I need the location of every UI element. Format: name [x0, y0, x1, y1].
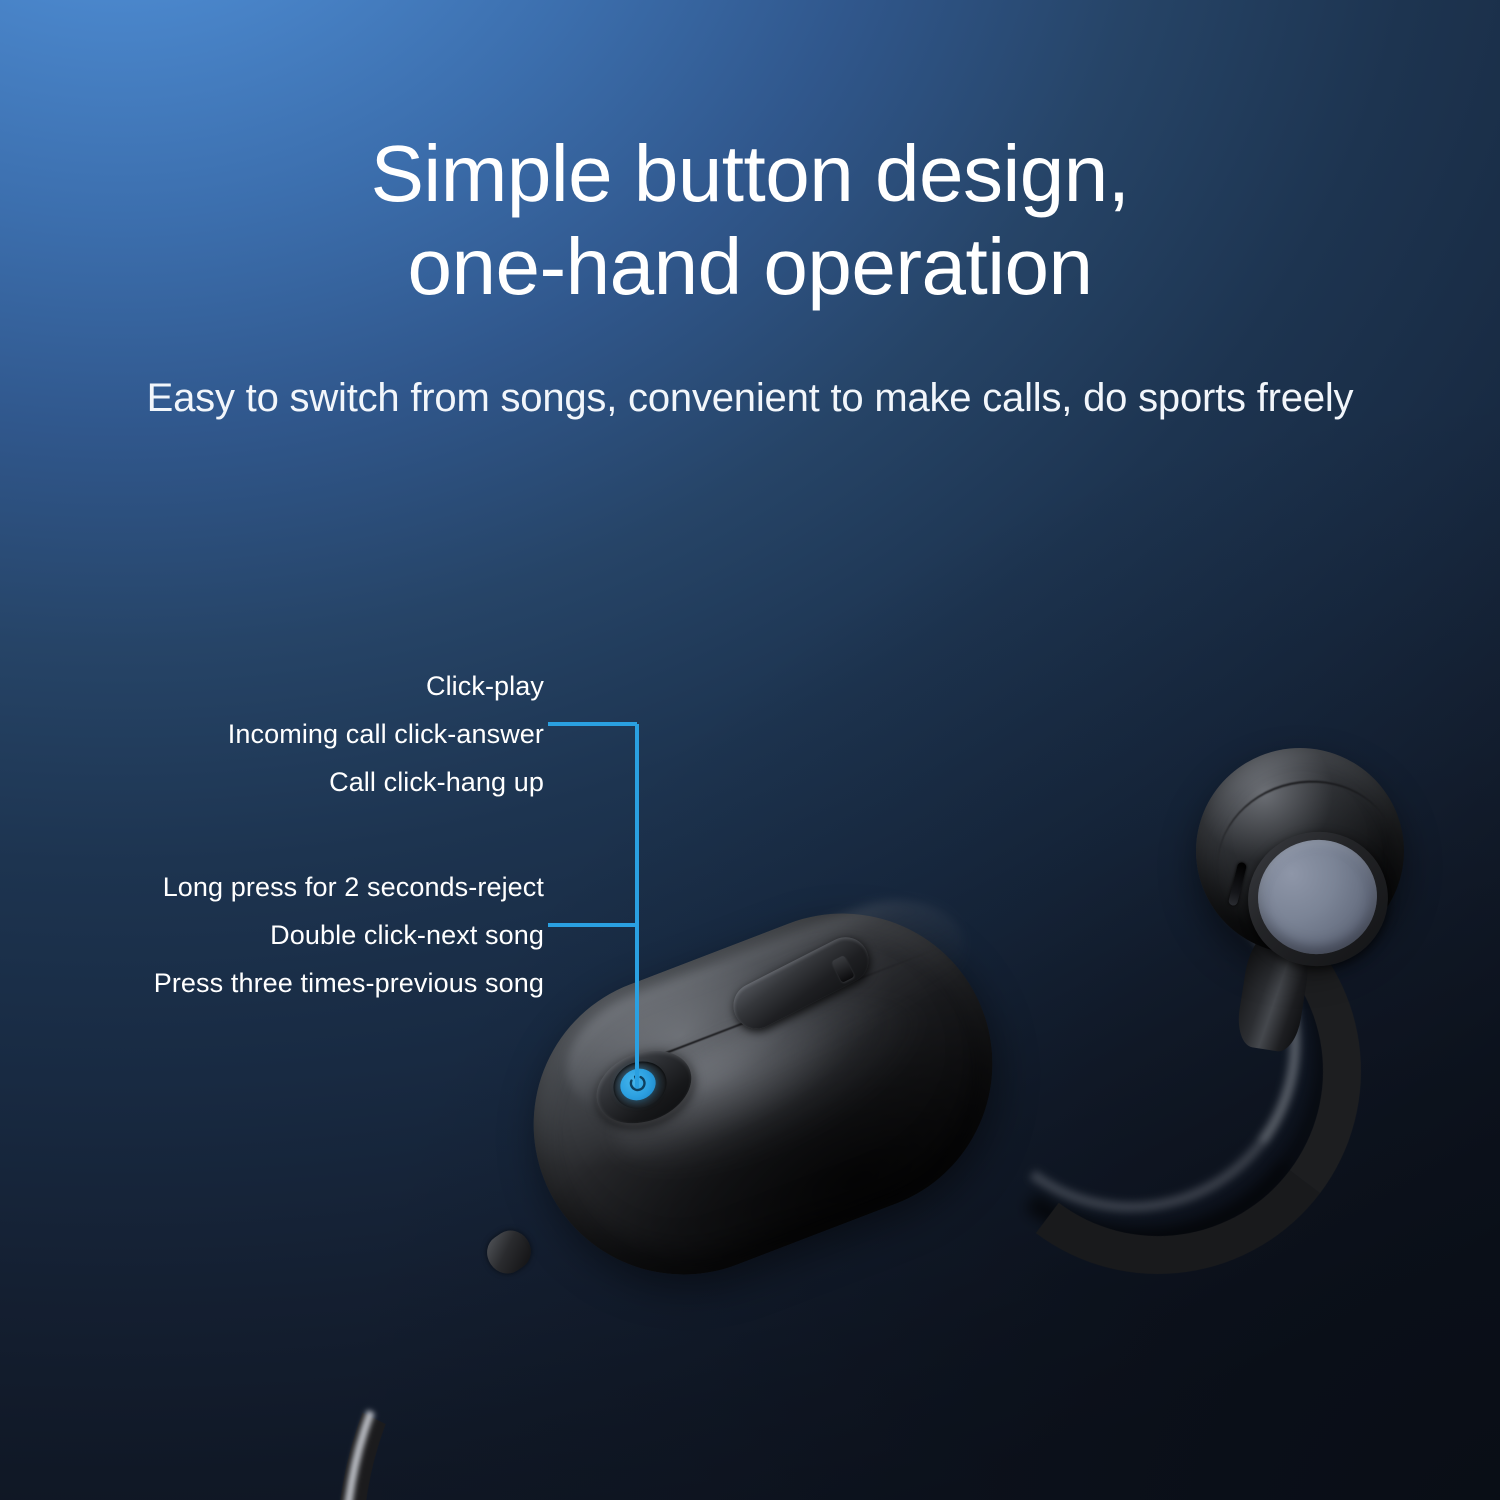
callout-double-click-next: Double click-next song: [60, 911, 544, 959]
callout-incoming-call-answer: Incoming call click-answer: [60, 710, 544, 758]
volume-rocker-button[interactable]: [726, 929, 877, 1036]
ear-hook-stem: [1234, 926, 1314, 1054]
control-module-top-face: [548, 877, 983, 1140]
power-button-inner: [607, 1054, 674, 1116]
volume-rocker-notch: [831, 955, 854, 983]
callout-group-multi-press: Long press for 2 seconds-reject Double c…: [60, 863, 544, 1007]
control-module-body: [490, 870, 1036, 1319]
earbud-seam: [1203, 764, 1396, 880]
power-button-led-ring: [616, 1064, 661, 1106]
neckband-cable-highlight: [239, 1208, 786, 1500]
power-icon: [624, 1070, 652, 1098]
page-title: Simple button design, one-hand operation: [0, 128, 1500, 314]
marketing-banner: Simple button design, one-hand operation…: [0, 0, 1500, 1500]
page-subtitle: Easy to switch from songs, convenient to…: [0, 376, 1500, 421]
neckband-cable: [234, 1205, 804, 1500]
callout-list: Click-play Incoming call click-answer Ca…: [60, 662, 544, 1007]
earbud-shell: [1196, 748, 1404, 954]
control-module-highlight: [595, 969, 946, 1199]
ear-hook: [929, 842, 1388, 1301]
earbud-vent-slot: [1228, 862, 1247, 907]
power-button[interactable]: [586, 1038, 702, 1137]
callout-call-hang-up: Call click-hang up: [60, 758, 544, 806]
ear-hook-highlight: [940, 852, 1322, 1234]
control-module-seam: [598, 946, 942, 1080]
callout-group-single-click: Click-play Incoming call click-answer Ca…: [60, 662, 544, 806]
callout-long-press-reject: Long press for 2 seconds-reject: [60, 863, 544, 911]
callout-triple-press-previous: Press three times-previous song: [60, 959, 544, 1007]
earbud-driver-disc: [1249, 831, 1386, 964]
ear-hook-shadow: [923, 837, 1359, 1273]
cable-strain-relief: [480, 1223, 539, 1281]
earbud-driver-bezel: [1237, 821, 1398, 977]
callout-click-play: Click-play: [60, 662, 544, 710]
